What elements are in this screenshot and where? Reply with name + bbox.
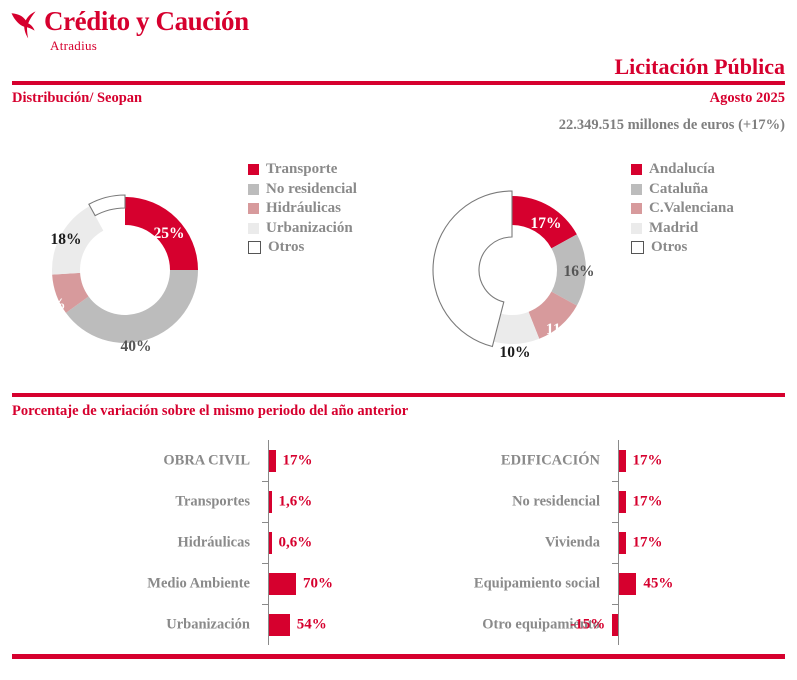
legend-swatch-icon <box>631 164 642 175</box>
legend-swatch-icon <box>631 184 642 195</box>
bar-category-label: No residencial <box>382 493 600 510</box>
legend2-item[interactable]: Cataluña <box>631 180 734 200</box>
legend-swatch-icon <box>631 203 642 214</box>
donut-slice <box>66 270 198 343</box>
legend-swatch-icon <box>248 164 259 175</box>
legend1-item[interactable]: Otros <box>248 238 357 258</box>
bar-value-rect <box>269 491 272 513</box>
legend-label: Otros <box>651 239 687 256</box>
donut2-label-1: 16% <box>564 263 595 281</box>
bar-value-rect <box>619 573 636 595</box>
legend-swatch-icon <box>631 241 644 254</box>
bar-row[interactable]: Medio Ambiente70% <box>0 563 390 604</box>
bar-row[interactable]: Equipamiento social45% <box>382 563 797 604</box>
footer-divider <box>12 654 785 659</box>
bar-value-label: 70% <box>303 575 333 592</box>
bar-row[interactable]: Transportes1,6% <box>0 481 390 522</box>
donut2-label-3: 10% <box>500 344 531 362</box>
legend-label: Urbanización <box>266 220 353 237</box>
donut-chart-territory: 17% 16% 11% 10% <box>405 162 620 377</box>
legend-label: No residencial <box>266 181 357 198</box>
bar-value-label: 17% <box>633 452 663 469</box>
bar-chart-obra-civil: OBRA CIVIL17%Transportes1,6%Hidráulicas0… <box>0 440 390 645</box>
donut1-label-2: 9% <box>42 296 65 314</box>
bar-category-label: OBRA CIVIL <box>0 452 250 469</box>
legend-label: Andalucía <box>649 161 715 178</box>
bar-category-label: Equipamiento social <box>382 575 600 592</box>
donut1-legend: TransporteNo residencialHidráulicasUrban… <box>248 160 357 258</box>
bar-value-rect <box>269 573 296 595</box>
legend2-item[interactable]: Otros <box>631 238 734 258</box>
legend-label: Cataluña <box>649 181 708 198</box>
bar-row[interactable]: No residencial17% <box>382 481 797 522</box>
bar-value-label: 17% <box>633 493 663 510</box>
bar-category-label: Otro equipamiento <box>382 616 600 633</box>
bar-value-rect <box>612 614 618 636</box>
bar-value-rect <box>619 491 626 513</box>
brand-name: Crédito y Caución <box>44 6 249 37</box>
bar-chart-edificacion: EDIFICACIÓN17%No residencial17%Vivienda1… <box>382 440 797 645</box>
header-divider <box>12 81 785 85</box>
bar-value-label: 17% <box>633 534 663 551</box>
legend-swatch-icon <box>248 184 259 195</box>
page-title: Licitación Pública <box>615 54 786 80</box>
bar-value-rect <box>269 614 290 636</box>
variation-section-heading: Porcentaje de variación sobre el mismo p… <box>12 403 408 420</box>
legend-label: Hidráulicas <box>266 200 341 217</box>
bar-value-label: -15% <box>570 616 605 633</box>
bar-row[interactable]: Otro equipamiento-15% <box>382 604 797 645</box>
legend2-item[interactable]: Andalucía <box>631 160 734 180</box>
legend2-item[interactable]: Madrid <box>631 219 734 239</box>
bar-row[interactable]: EDIFICACIÓN17% <box>382 440 797 481</box>
total-amount: 22.349.515 millones de euros (+17%) <box>559 117 785 134</box>
legend-label: Transporte <box>266 161 337 178</box>
donut1-label-1: 40% <box>121 338 152 356</box>
donut-chart-distribution: 25% 40% 9% 18% <box>18 162 233 377</box>
bar-value-rect <box>619 450 626 472</box>
bar-category-label: Medio Ambiente <box>0 575 250 592</box>
donut1-label-3: 18% <box>51 231 82 249</box>
legend1-item[interactable]: Hidráulicas <box>248 199 357 219</box>
donut-slice <box>89 195 125 216</box>
legend-label: Otros <box>268 239 304 256</box>
legend2-item[interactable]: C.Valenciana <box>631 199 734 219</box>
distribution-subtitle: Distribución/ Seopan <box>12 90 142 107</box>
bar-value-label: 54% <box>297 616 327 633</box>
bar-row[interactable]: Vivienda17% <box>382 522 797 563</box>
bar-row[interactable]: OBRA CIVIL17% <box>0 440 390 481</box>
period-label: Agosto 2025 <box>710 90 785 107</box>
bar-value-label: 17% <box>283 452 313 469</box>
bar-category-label: Transportes <box>0 493 250 510</box>
donut2-legend: AndalucíaCataluñaC.ValencianaMadridOtros <box>631 160 734 258</box>
bar-row[interactable]: Urbanización54% <box>0 604 390 645</box>
legend1-item[interactable]: Transporte <box>248 160 357 180</box>
bar-value-label: 0,6% <box>279 534 313 551</box>
legend-swatch-icon <box>248 223 259 234</box>
legend-swatch-icon <box>631 223 642 234</box>
legend1-item[interactable]: Urbanización <box>248 219 357 239</box>
donut2-label-0: 17% <box>531 215 562 233</box>
bar-value-rect <box>269 532 272 554</box>
bar-category-label: EDIFICACIÓN <box>382 452 600 469</box>
bar-category-label: Hidráulicas <box>0 534 250 551</box>
legend1-item[interactable]: No residencial <box>248 180 357 200</box>
donut1-label-0: 25% <box>154 225 185 243</box>
bar-value-rect <box>269 450 276 472</box>
page-header: Crédito y Caución Atradius Licitación Pú… <box>0 0 797 80</box>
bar-value-rect <box>619 532 626 554</box>
section-divider <box>12 393 785 397</box>
bar-category-label: Vivienda <box>382 534 600 551</box>
bar-category-label: Urbanización <box>0 616 250 633</box>
donut2-label-2: 11% <box>546 321 576 339</box>
legend-swatch-icon <box>248 203 259 214</box>
bar-value-label: 1,6% <box>279 493 313 510</box>
bar-value-label: 45% <box>643 575 673 592</box>
legend-label: Madrid <box>649 220 698 237</box>
legend-swatch-icon <box>248 241 261 254</box>
legend-label: C.Valenciana <box>649 200 734 217</box>
brand-subname: Atradius <box>50 38 97 54</box>
bar-row[interactable]: Hidráulicas0,6% <box>0 522 390 563</box>
atradius-bird-mark <box>10 10 44 40</box>
